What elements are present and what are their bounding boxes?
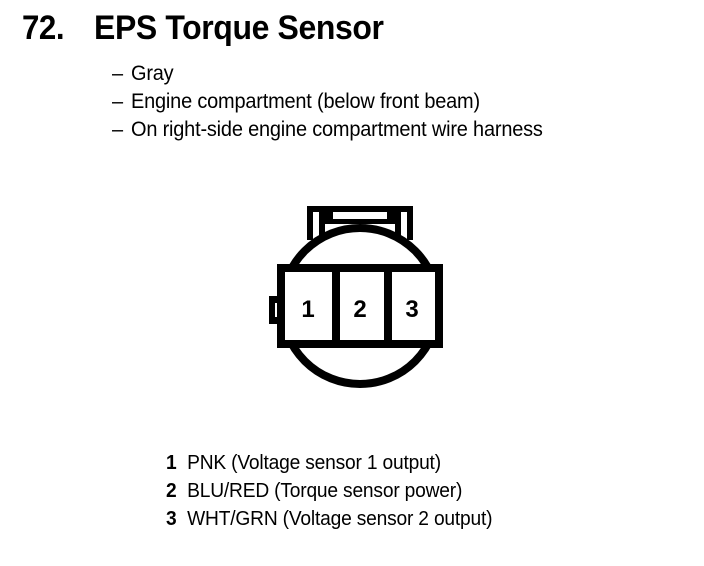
description-item-label: Gray — [131, 62, 173, 85]
page-title: EPS Torque Sensor — [94, 8, 384, 48]
legend-row: 2BLU/RED (Torque sensor power) — [166, 477, 569, 505]
page-header: 72. EPS Torque Sensor — [22, 8, 682, 52]
dash-bullet-icon: – — [112, 60, 131, 88]
description-item-color: –Gray — [112, 60, 663, 88]
pin-number-1: 1 — [301, 296, 314, 323]
legend-pin-description: WHT/GRN (Voltage sensor 2 output) — [187, 505, 492, 533]
pin-legend: 1PNK (Voltage sensor 1 output) 2BLU/RED … — [166, 449, 586, 533]
legend-row: 1PNK (Voltage sensor 1 output) — [166, 449, 569, 477]
connector-diagram-page: 72. EPS Torque Sensor –Gray –Engine comp… — [0, 0, 704, 566]
description-list: –Gray –Engine compartment (below front b… — [112, 60, 692, 144]
pin-divider — [384, 268, 392, 344]
pin-divider — [332, 268, 340, 344]
entry-number: 72. — [22, 8, 64, 48]
description-item-label: Engine compartment (below front beam) — [131, 90, 480, 113]
dash-bullet-icon: – — [112, 88, 131, 116]
legend-pin-number: 3 — [166, 505, 187, 533]
dash-bullet-icon: – — [112, 116, 131, 144]
connector-svg: 1 2 3 — [255, 196, 465, 396]
pin-number-2: 2 — [353, 296, 366, 323]
top-center-slot-icon — [325, 206, 395, 224]
description-item-label: On right-side engine compartment wire ha… — [131, 118, 543, 141]
legend-row: 3WHT/GRN (Voltage sensor 2 output) — [166, 505, 569, 533]
legend-pin-number: 2 — [166, 477, 187, 505]
description-item-location: –Engine compartment (below front beam) — [112, 88, 663, 116]
description-item-harness: –On right-side engine compartment wire h… — [112, 116, 663, 144]
legend-pin-description: BLU/RED (Torque sensor power) — [187, 477, 462, 505]
legend-pin-description: PNK (Voltage sensor 1 output) — [187, 449, 441, 477]
connector-illustration: 1 2 3 — [255, 196, 465, 396]
pin-number-3: 3 — [405, 296, 418, 323]
legend-pin-number: 1 — [166, 449, 187, 477]
